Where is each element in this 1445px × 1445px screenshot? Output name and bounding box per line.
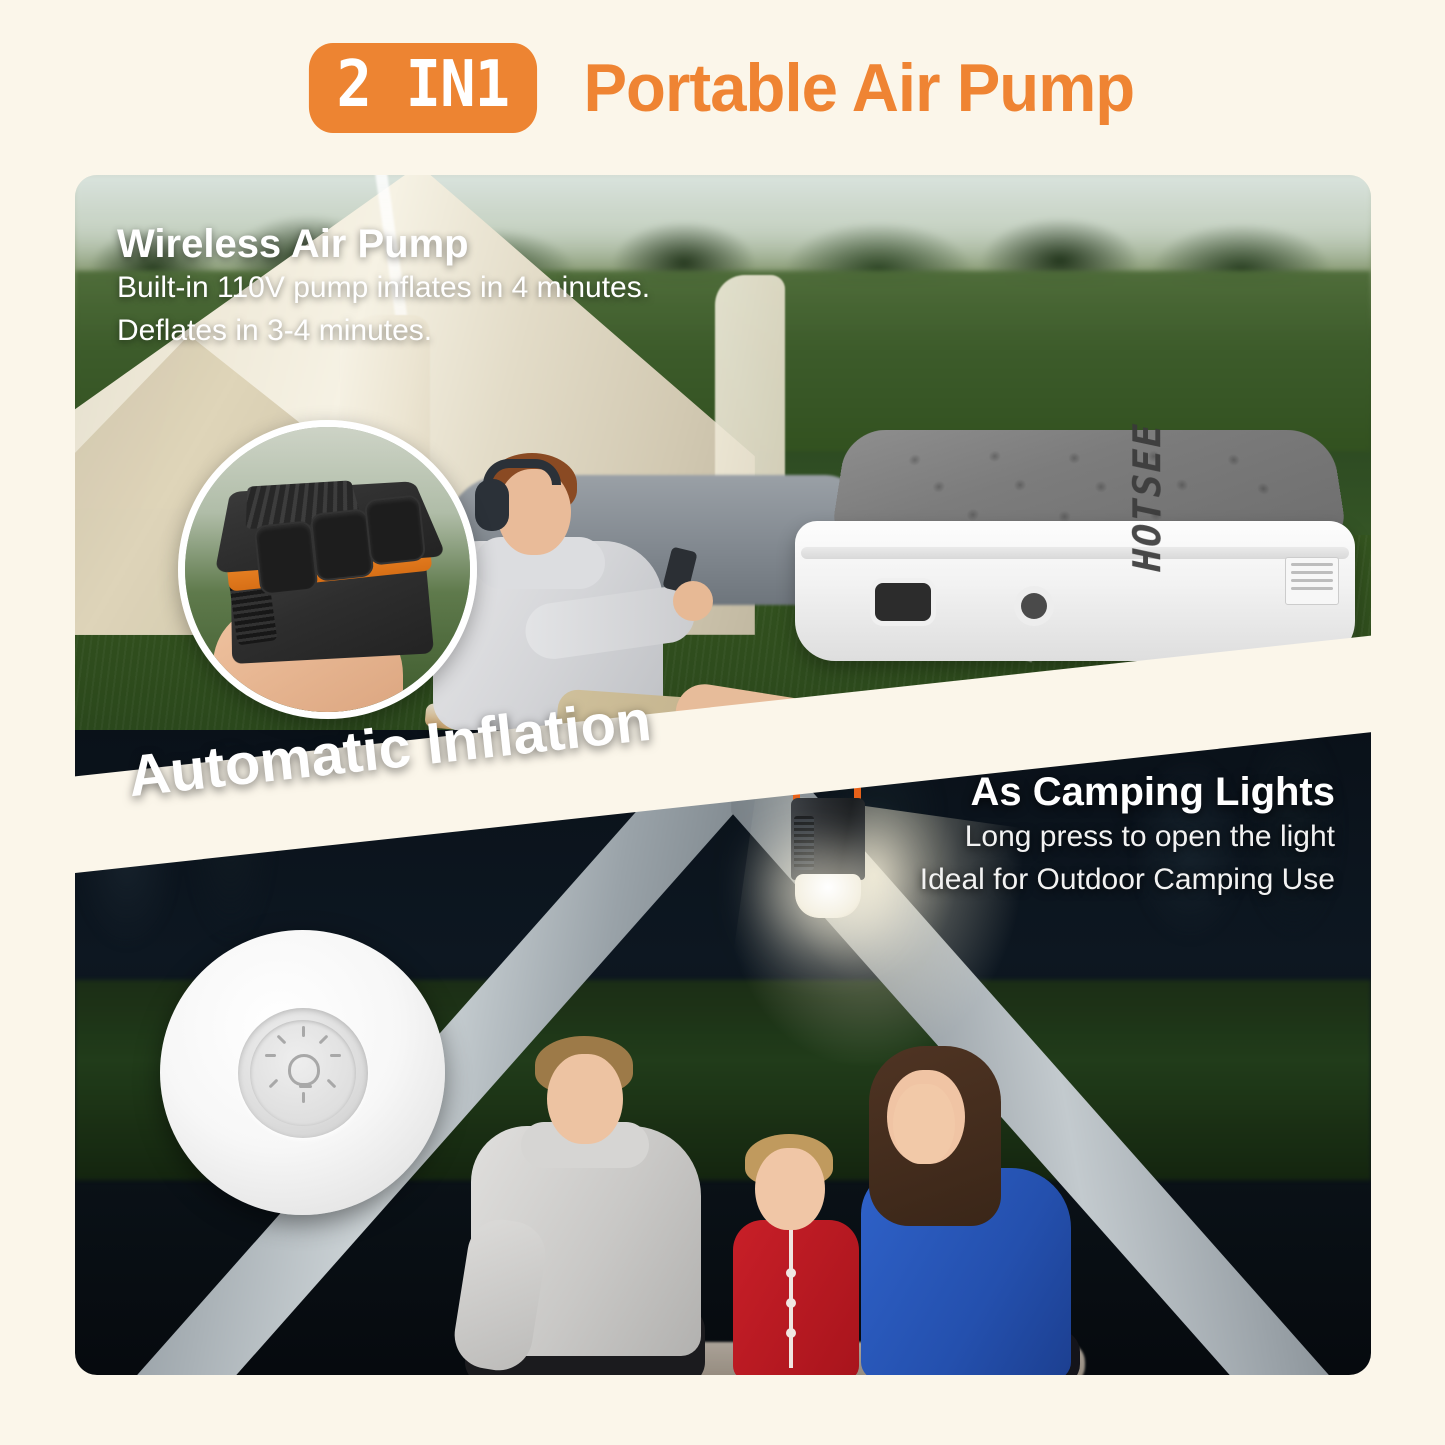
- lantern-diffuser: [795, 874, 861, 918]
- light-bulb-icon: [288, 1054, 320, 1086]
- bottom-panel-line2: Ideal for Outdoor Camping Use: [920, 859, 1335, 902]
- air-valve: [1021, 593, 1047, 619]
- headline: 2 IN1 Portable Air Pump: [299, 43, 1146, 133]
- light-button-closeup-inset: [160, 930, 445, 1215]
- bottom-panel-line1: Long press to open the light: [920, 816, 1335, 859]
- family-group: [455, 1030, 1075, 1375]
- page-title: Portable Air Pump: [584, 54, 1135, 122]
- brand-logo: HOTSEE: [1125, 418, 1169, 577]
- feature-panels: 4 mins HOTSEE W: [75, 175, 1371, 1375]
- bottom-panel-heading: As Camping Lights: [920, 768, 1335, 816]
- spec-label: [1285, 557, 1339, 605]
- top-panel-line2: Deflates in 3-4 minutes.: [117, 310, 650, 353]
- top-panel-line1: Built-in 110V pump inflates in 4 minutes…: [117, 267, 650, 310]
- top-panel-text: Wireless Air Pump Built-in 110V pump inf…: [117, 221, 650, 352]
- bottom-panel-text: As Camping Lights Long press to open the…: [920, 768, 1335, 901]
- pump-dock-port: [875, 583, 931, 621]
- page-header: 2 IN1 Portable Air Pump: [0, 0, 1445, 175]
- two-in-one-badge: 2 IN1: [309, 43, 537, 133]
- power-button-ring: [238, 1008, 368, 1138]
- top-panel-heading: Wireless Air Pump: [117, 221, 650, 267]
- air-pump-closeup-inset: [178, 420, 477, 719]
- air-mattress: HOTSEE: [795, 425, 1365, 675]
